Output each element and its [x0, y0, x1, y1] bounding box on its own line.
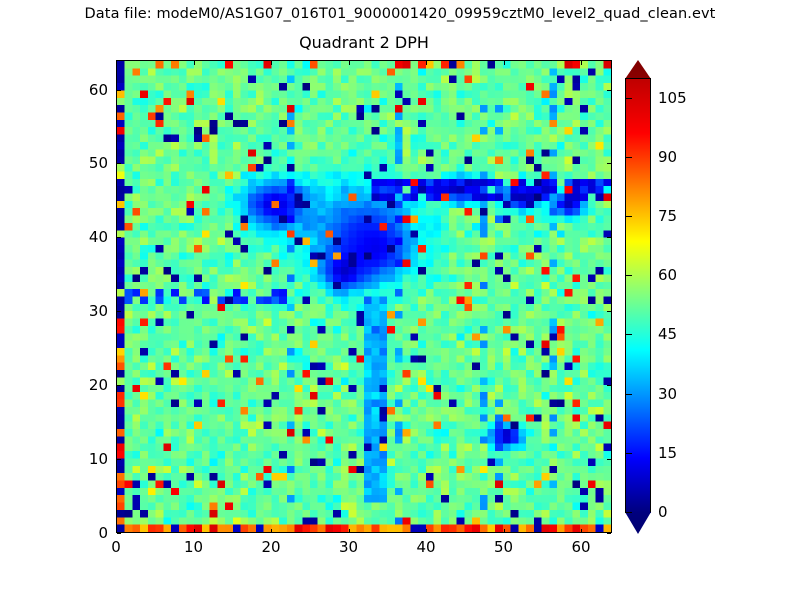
- colorbar-tick-mark: [625, 394, 632, 395]
- detector-pixel-heatmap: [117, 61, 611, 532]
- x-tick-mark-top: [426, 61, 427, 65]
- y-tick-label: 20: [72, 376, 108, 394]
- x-tick-mark-top: [271, 61, 272, 65]
- colorbar-under-arrow: [625, 512, 651, 534]
- y-tick-label: 50: [72, 154, 108, 172]
- colorbar-tick-label: 90: [658, 148, 677, 166]
- x-tick-mark-top: [504, 61, 505, 65]
- x-tick-label: 20: [261, 538, 280, 556]
- x-tick-label: 30: [339, 538, 358, 556]
- x-tick-mark-top: [581, 61, 582, 65]
- colorbar-tick-label: 15: [658, 444, 677, 462]
- y-tick-mark-right: [607, 385, 611, 386]
- colorbar-tick-mark: [625, 334, 632, 335]
- y-tick-label: 40: [72, 228, 108, 246]
- y-tick-label: 10: [72, 450, 108, 468]
- x-tick-mark: [426, 529, 427, 533]
- y-tick-mark-right: [607, 311, 611, 312]
- x-tick-label: 50: [494, 538, 513, 556]
- x-tick-label: 40: [416, 538, 435, 556]
- x-tick-mark: [581, 529, 582, 533]
- colorbar-tick-mark: [625, 157, 632, 158]
- x-tick-label: 0: [111, 538, 121, 556]
- colorbar-tick-mark: [625, 512, 632, 513]
- x-tick-mark: [349, 529, 350, 533]
- y-tick-mark-right: [607, 163, 611, 164]
- x-tick-mark: [504, 529, 505, 533]
- colorbar: [625, 60, 651, 535]
- x-tick-label: 10: [184, 538, 203, 556]
- colorbar-tick-mark: [625, 98, 632, 99]
- figure-canvas: Data file: modeM0/AS1G07_016T01_90000014…: [0, 0, 800, 600]
- colorbar-tick-label: 75: [658, 207, 677, 225]
- figure-suptitle: Data file: modeM0/AS1G07_016T01_90000014…: [0, 6, 800, 22]
- y-tick-mark: [117, 237, 121, 238]
- x-tick-mark-top: [116, 61, 117, 65]
- y-tick-label: 30: [72, 302, 108, 320]
- colorbar-tick-label: 45: [658, 325, 677, 343]
- heatmap-axes: [116, 60, 612, 533]
- x-tick-mark: [194, 529, 195, 533]
- y-tick-mark: [117, 385, 121, 386]
- x-tick-mark-top: [349, 61, 350, 65]
- y-tick-mark: [117, 90, 121, 91]
- colorbar-tick-label: 105: [658, 89, 687, 107]
- y-tick-mark-right: [607, 533, 611, 534]
- y-tick-mark: [117, 459, 121, 460]
- colorbar-tick-label: 30: [658, 385, 677, 403]
- colorbar-tick-label: 60: [658, 266, 677, 284]
- y-tick-mark: [117, 163, 121, 164]
- y-tick-mark-right: [607, 237, 611, 238]
- x-tick-label: 60: [571, 538, 590, 556]
- y-tick-mark: [117, 533, 121, 534]
- y-tick-mark: [117, 311, 121, 312]
- x-tick-mark: [271, 529, 272, 533]
- colorbar-tick-mark: [625, 275, 632, 276]
- axes-title: Quadrant 2 DPH: [116, 33, 612, 52]
- y-tick-label: 0: [72, 524, 108, 542]
- colorbar-tick-mark: [625, 216, 632, 217]
- y-tick-mark-right: [607, 459, 611, 460]
- y-tick-label: 60: [72, 81, 108, 99]
- y-tick-mark-right: [607, 90, 611, 91]
- x-tick-mark-top: [194, 61, 195, 65]
- colorbar-tick-label: 0: [658, 503, 668, 521]
- colorbar-gradient: [625, 78, 651, 513]
- colorbar-tick-mark: [625, 453, 632, 454]
- colorbar-over-arrow: [625, 60, 651, 79]
